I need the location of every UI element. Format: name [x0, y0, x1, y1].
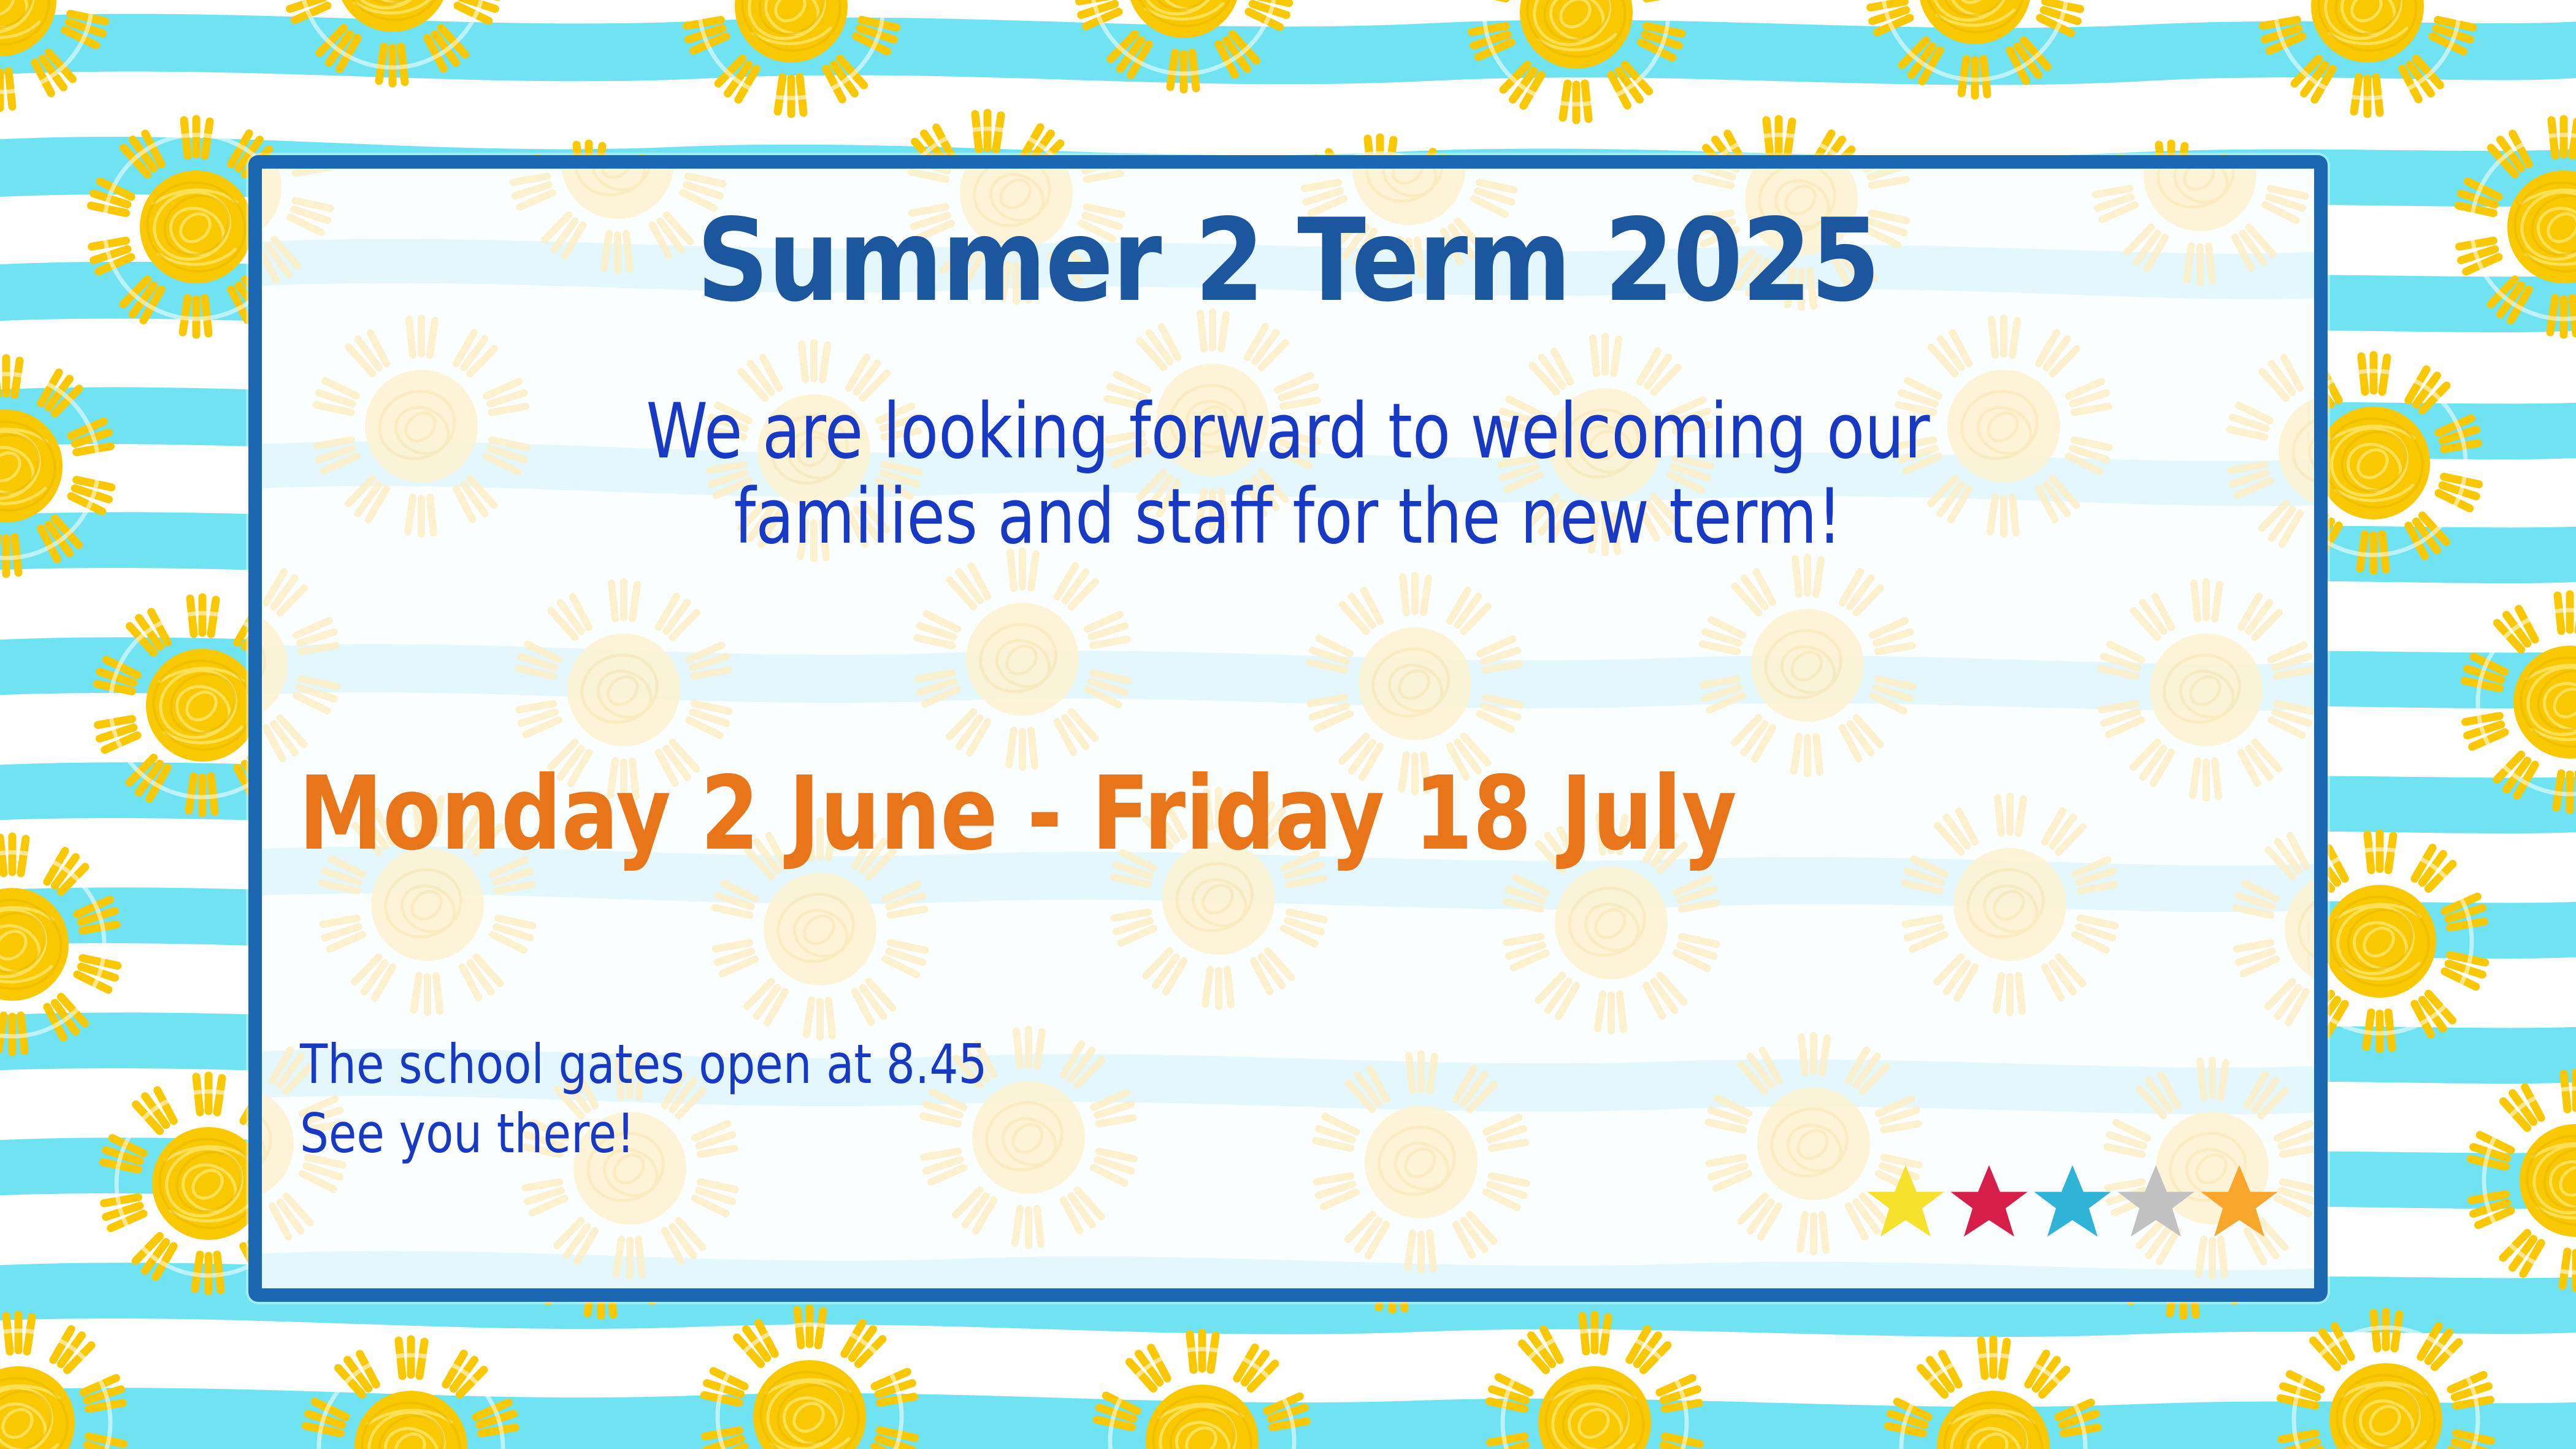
star-crimson-icon: [1950, 1162, 2028, 1241]
term-dates: Monday 2 June - Friday 18 July: [299, 763, 1971, 865]
star-decoration-row: [1866, 1162, 2279, 1241]
star-yellow-icon: [1866, 1162, 1945, 1241]
star-grey-icon: [2117, 1162, 2195, 1241]
poster-card: Summer 2 Term 2025 We are looking forwar…: [248, 155, 2328, 1302]
gates-note: The school gates open at 8.45 See you th…: [300, 1030, 987, 1168]
welcome-message-line1: We are looking forward to welcoming our: [507, 389, 2069, 475]
star-cyan-icon: [2033, 1162, 2112, 1241]
welcome-message-line2: families and staff for the new term!: [507, 475, 2069, 560]
poster-canvas: Summer 2 Term 2025 We are looking forwar…: [0, 0, 2576, 1449]
welcome-message: We are looking forward to welcoming our …: [507, 389, 2069, 560]
card-content: Summer 2 Term 2025 We are looking forwar…: [262, 169, 2314, 1288]
star-orange-icon: [2200, 1162, 2279, 1241]
gates-note-line1: The school gates open at 8.45: [300, 1030, 987, 1099]
page-title: Summer 2 Term 2025: [385, 201, 2191, 320]
gates-note-line2: See you there!: [300, 1099, 987, 1169]
